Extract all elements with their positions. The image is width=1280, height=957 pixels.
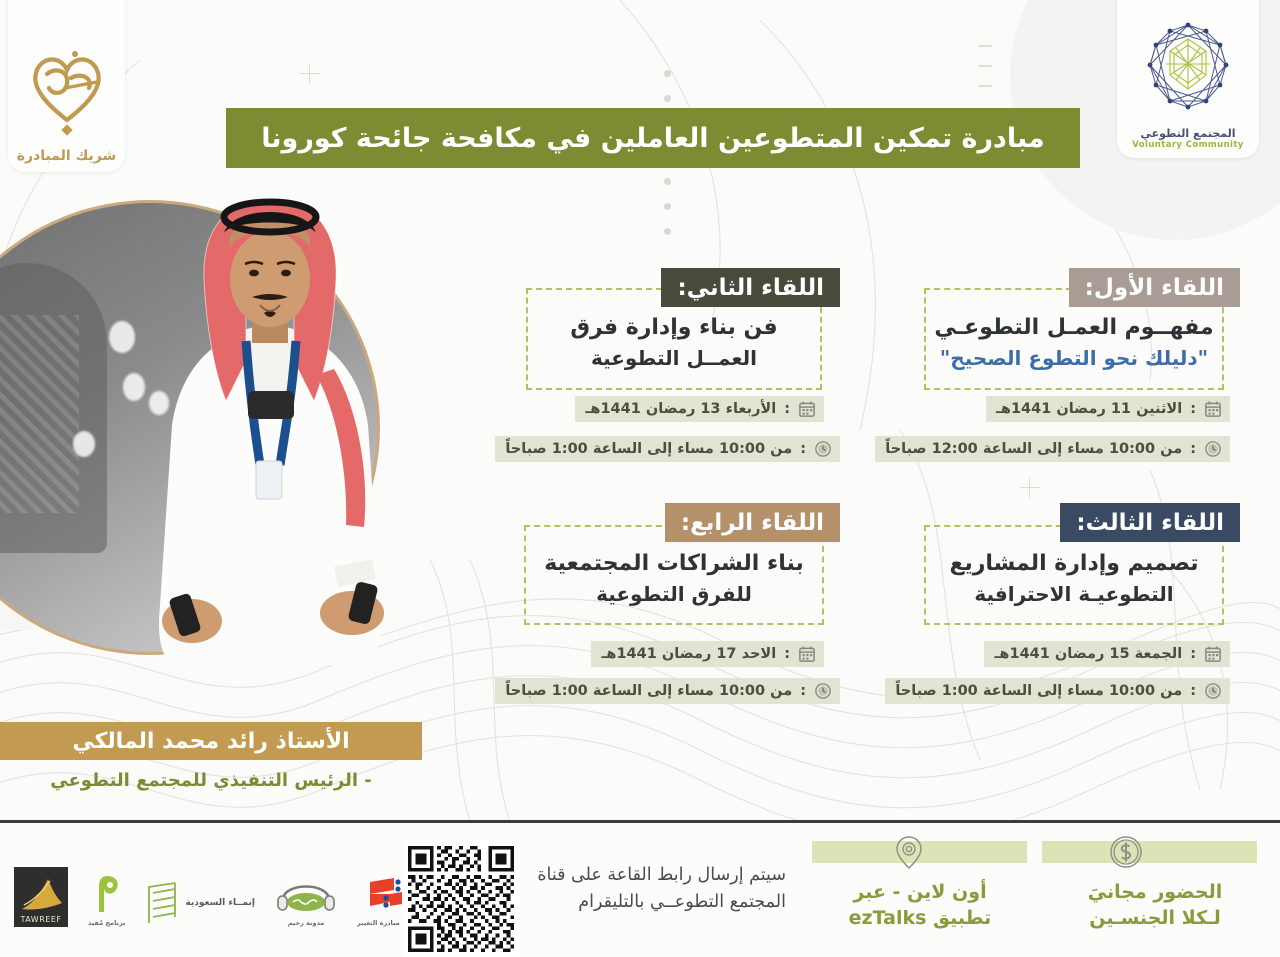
free-accent-bar <box>1042 841 1257 863</box>
session-4-date-colon: : <box>784 646 790 662</box>
speaker-name: الأستاذ رائد محمد المالكي <box>72 729 349 754</box>
session-2-title-line2: العمــل التطوعية <box>591 346 757 370</box>
svg-text:TAWREEF: TAWREEF <box>20 915 62 924</box>
session-4-date-row: : الاحد 17 رمضان 1441هـ <box>591 641 824 667</box>
speaker-name-bar: الأستاذ رائد محمد المالكي <box>0 722 422 760</box>
session-2-header: اللقاء الثاني: <box>661 268 840 307</box>
stairs-icon <box>145 881 179 927</box>
speaker-role: - الرئيس التنفيذي للمجتمع التطوعي <box>0 770 422 791</box>
heart-calligraphy-logo-icon <box>23 38 111 146</box>
telegram-note: سيتم إرسال رابط القاعة على قناة المجتمع … <box>536 862 786 916</box>
session-4-title-line2: للفرق التطوعية <box>596 582 752 606</box>
session-3-title-line1: تصميم وإدارة المشاريع <box>949 551 1198 576</box>
session-2-time: من 10:00 مساء إلى الساعة 1:00 صباحاً <box>505 441 792 457</box>
session-1-date: الاثنين 11 رمضان 1441هـ <box>996 401 1182 417</box>
event-poster: شريك المبادرة <box>0 0 1280 957</box>
calendar-icon <box>798 400 816 418</box>
clock-icon <box>1204 682 1222 700</box>
session-4-time-row: : من 10:00 مساء إلى الساعة 1:00 صباحاً <box>495 678 840 704</box>
session-3-title-line2: التطوعيـة الاحترافية <box>974 582 1173 606</box>
session-1-date-colon: : <box>1190 401 1196 417</box>
sponsor-caption: إنمــاء السعودية <box>185 898 255 910</box>
sponsor-tawreef[interactable]: TAWREEF <box>14 867 68 927</box>
sponsor-caption: برنامج مُفيد <box>88 919 125 927</box>
page-title: مبادرة تمكين المتطوعين العاملين في مكافح… <box>261 123 1044 154</box>
session-3-time: من 10:00 مساء إلى الساعة 1:00 صباحاً <box>895 683 1182 699</box>
online-info: أون لاين - عبر تطبيق ezTalks <box>805 880 1035 931</box>
org-logo-card: المجتمع التطوعي Voluntary Community <box>1117 0 1259 158</box>
session-1-time: من 10:00 مساء إلى الساعة 12:00 صباحاً <box>885 441 1182 457</box>
org-logo-name-ar: المجتمع التطوعي <box>1140 127 1235 140</box>
session-4-time: من 10:00 مساء إلى الساعة 1:00 صباحاً <box>505 683 792 699</box>
org-logo-name-en: Voluntary Community <box>1132 140 1243 150</box>
free-info: الحضور مجانيَ لـكلا الجنسـين <box>1040 880 1270 931</box>
location-pin-icon <box>890 833 928 871</box>
page-title-banner: مبادرة تمكين المتطوعين العاملين في مكافح… <box>226 108 1080 168</box>
free-line1: الحضور مجانيَ <box>1040 880 1270 906</box>
session-3-header: اللقاء الثالث: <box>1060 503 1240 542</box>
free-line2: لـكلا الجنسـين <box>1040 906 1270 932</box>
calendar-icon <box>1204 400 1222 418</box>
session-4-date: الاحد 17 رمضان 1441هـ <box>601 646 776 662</box>
geometric-network-logo-icon <box>1132 15 1244 127</box>
sponsor-barnamaj-mufeed[interactable]: برنامج مُفيد <box>88 872 125 927</box>
session-3-date-row: : الجمعة 15 رمضان 1441هـ <box>984 641 1230 667</box>
sponsor-caption: مدونة رخيم <box>288 919 325 927</box>
decorative-dot-column-lower <box>664 178 671 253</box>
session-4-title-line1: بناء الشراكات المجتمعية <box>544 551 804 576</box>
session-3-time-colon: : <box>1190 683 1196 699</box>
session-2-title-line1: فن بناء وإدارة فرق <box>570 315 777 340</box>
session-card-2[interactable]: اللقاء الثاني: فن بناء وإدارة فرق العمــ… <box>460 268 850 468</box>
session-3-date-colon: : <box>1190 646 1196 662</box>
session-1-title-line2: "دليلك نحو التطوع الصحيح" <box>940 346 1208 370</box>
session-1-title-line1: مفهــوم العمـل التطوعـي <box>934 315 1213 340</box>
clock-icon <box>1204 440 1222 458</box>
online-line2: تطبيق ezTalks <box>805 906 1035 932</box>
session-1-date-row: : الاثنين 11 رمضان 1441هـ <box>986 396 1230 422</box>
session-2-date-colon: : <box>784 401 790 417</box>
session-card-1[interactable]: اللقاء الأول: مفهــوم العمـل التطوعـي "د… <box>900 268 1240 468</box>
sponsor-madonat-rakheem[interactable]: مدونة رخيم <box>275 872 337 927</box>
session-1-header: اللقاء الأول: <box>1069 268 1240 307</box>
session-2-date-row: : الأربعاء 13 رمضان 1441هـ <box>575 396 824 422</box>
session-1-time-row: : من 10:00 مساء إلى الساعة 12:00 صباحاً <box>875 436 1230 462</box>
session-3-time-row: : من 10:00 مساء إلى الساعة 1:00 صباحاً <box>885 678 1230 704</box>
speaker-portrait <box>120 175 420 665</box>
session-4-time-colon: : <box>800 683 806 699</box>
background-lantern <box>0 263 107 553</box>
dollar-circle-icon <box>1107 833 1145 871</box>
sponsor-inmaa-saudia[interactable]: إنمــاء السعودية <box>145 881 255 927</box>
clock-icon <box>814 440 832 458</box>
session-card-4[interactable]: اللقاء الرابع: بناء الشراكات المجتمعية ل… <box>460 503 850 713</box>
session-2-time-colon: : <box>800 441 806 457</box>
session-4-header: اللقاء الرابع: <box>665 503 840 542</box>
session-card-3[interactable]: اللقاء الثالث: تصميم وإدارة المشاريع الت… <box>900 503 1240 713</box>
qr-code[interactable] <box>402 840 520 957</box>
session-2-time-row: : من 10:00 مساء إلى الساعة 1:00 صباحاً <box>495 436 840 462</box>
partner-logo-caption: شريك المبادرة <box>17 148 117 164</box>
clock-icon <box>814 682 832 700</box>
calendar-icon <box>1204 645 1222 663</box>
session-2-date: الأربعاء 13 رمضان 1441هـ <box>585 401 776 417</box>
calendar-icon <box>798 645 816 663</box>
session-1-time-colon: : <box>1190 441 1196 457</box>
sponsor-logos: مؤسسة مبادرة التغيير مدونة رخيم إنمــاء … <box>14 855 427 927</box>
partner-logo-card: شريك المبادرة <box>8 0 125 172</box>
online-line1: أون لاين - عبر <box>805 880 1035 906</box>
session-3-date: الجمعة 15 رمضان 1441هـ <box>994 646 1182 662</box>
decorative-dash-column <box>978 45 992 105</box>
